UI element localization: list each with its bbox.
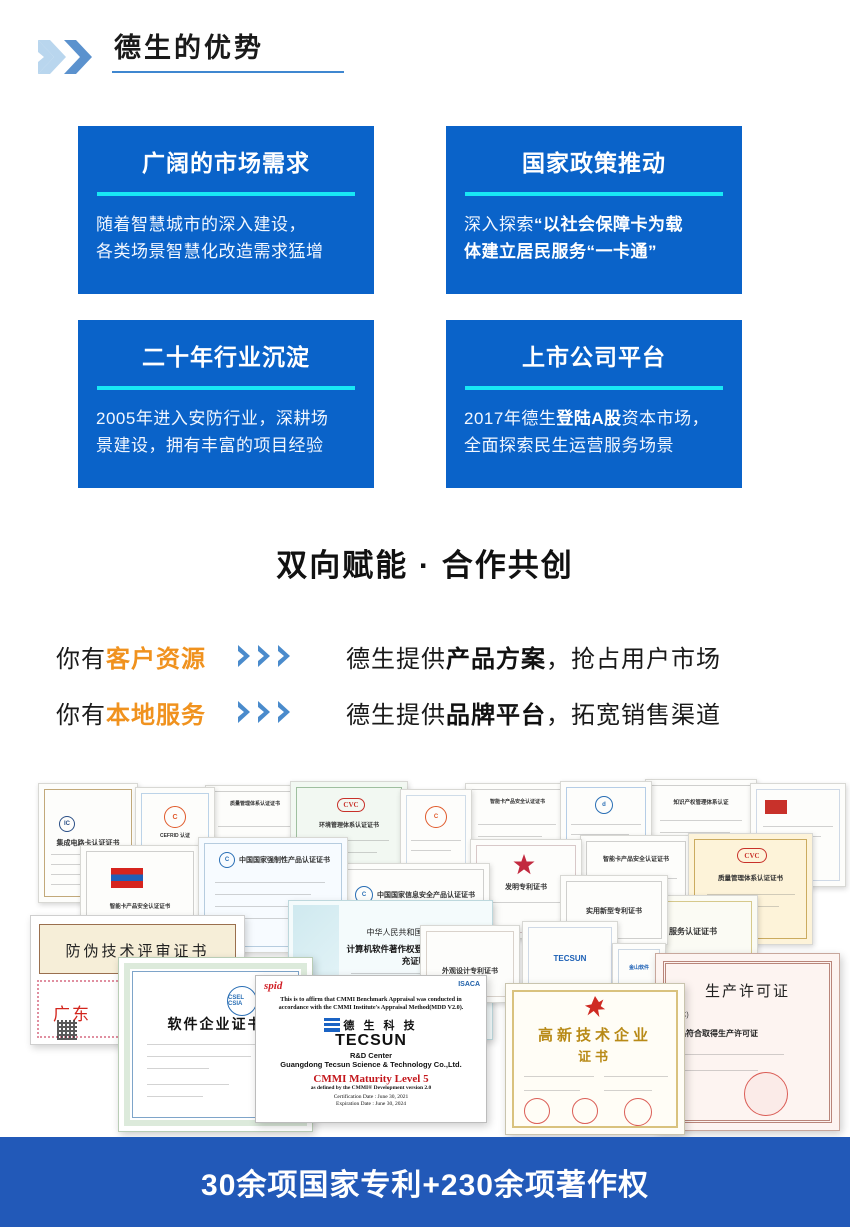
certificate-title: 质量管理体系认证证书 <box>689 872 812 882</box>
advantages-page: 德生的优势 广阔的市场需求 随着智慧城市的深入建设， 各类场景智慧化改造需求猛增… <box>0 0 850 1227</box>
certificate-title: 实用新型专利证书 <box>561 906 667 916</box>
cmmi-expiration-date: Expiration Date : June 30, 2024 <box>264 1101 478 1108</box>
cvc-logo-icon: CVC <box>737 848 767 863</box>
card-body: 2017年德生登陆A股资本市场， 全面探索民生运营服务场景 <box>464 405 724 459</box>
benefit-left-highlight: 本地服务 <box>106 702 206 729</box>
tecsun-mark-icon <box>765 800 787 814</box>
certificate-title: 智能卡产品安全认证证书 <box>466 798 569 805</box>
cmmi-division: R&D Center <box>264 1051 478 1060</box>
advantage-card-market-demand[interactable]: 广阔的市场需求 随着智慧城市的深入建设， 各类场景智慧化改造需求猛增 <box>78 126 374 294</box>
certificate-high-tech-enterprise: 高新技术企业 证书 <box>505 983 685 1135</box>
benefit-left-highlight: 客户资源 <box>106 646 206 673</box>
card-body-line: 深入探索 <box>464 215 534 234</box>
official-red-seal-icon <box>624 1098 652 1126</box>
benefit-rows: 你有客户资源 德生提供产品方案，抢占用户市场 你有本地服务 德生提供品牌平台，拓… <box>0 628 850 740</box>
isaca-logo: ISACA <box>458 981 480 988</box>
certificate-collage: IC 集成电路卡认证证书 C CEFRID 认证 质量管理体系认证证书 CVC … <box>0 775 850 1137</box>
qr-code-icon <box>57 1020 77 1040</box>
official-red-seal-icon <box>524 1098 550 1124</box>
cmmi-defined-by: as defined by the CMMI® Development vers… <box>264 1085 478 1091</box>
card-body-line: 资本市场， <box>622 409 710 428</box>
double-chevron-icon-group <box>36 38 94 76</box>
triple-chevron-right-icon <box>236 644 296 668</box>
official-red-seal-icon <box>572 1098 598 1124</box>
cefrid-logo-icon: C <box>425 806 447 828</box>
double-chevron-medium-icon <box>62 38 94 76</box>
section-header: 德生的优势 <box>0 30 850 96</box>
card-title: 二十年行业沉淀 <box>96 342 356 372</box>
certificate-title: 环境管理体系认证证书 <box>291 820 407 829</box>
benefit-left-prefix: 你有 <box>56 646 106 673</box>
card-body-line: 全面探索民生运营服务场景 <box>464 436 674 455</box>
card-body-emphasis: “以社会保障卡为载 <box>534 215 683 234</box>
card-divider <box>97 386 355 390</box>
card-body-line: 2005年进入安防行业，深耕场 <box>96 409 328 428</box>
spid-logo: spid <box>264 980 282 992</box>
product-safety-logo-icon <box>111 868 143 888</box>
certification-seal-icon: d <box>595 796 613 814</box>
benefit-right: 德生提供品牌平台，拓宽销售渠道 <box>346 695 721 730</box>
benefit-row-customer-resources: 你有客户资源 德生提供产品方案，抢占用户市场 <box>0 628 850 684</box>
ccc-badge-icon: C <box>219 852 235 868</box>
advantage-card-listed-company[interactable]: 上市公司平台 2017年德生登陆A股资本市场， 全面探索民生运营服务场景 <box>446 320 742 488</box>
card-divider <box>465 192 723 196</box>
benefit-right: 德生提供产品方案，抢占用户市场 <box>346 639 721 674</box>
banner-text: 30余项国家专利+230余项著作权 <box>201 1160 649 1204</box>
tecsun-brand-row: 德 生 科 技 <box>264 1017 478 1033</box>
benefit-left: 你有客户资源 <box>56 639 206 674</box>
card-body-line: 各类场景智慧化改造需求猛增 <box>96 242 324 261</box>
cmmi-level: CMMI Maturity Level 5 <box>264 1073 478 1085</box>
card-title: 广阔的市场需求 <box>96 148 356 178</box>
triple-chevron-right-icon <box>236 700 296 724</box>
card-body-emphasis: 体建立居民服务“一卡通” <box>464 242 657 261</box>
card-body: 2005年进入安防行业，深耕场 景建设，拥有丰富的项目经验 <box>96 405 356 459</box>
certificate-title: 智能卡产品安全认证证书 <box>581 854 691 863</box>
cefrid-logo-icon: C <box>164 806 186 828</box>
advantage-cards: 广阔的市场需求 随着智慧城市的深入建设， 各类场景智慧化改造需求猛增 国家政策推… <box>78 126 772 488</box>
cmmi-certification-date: Certification Date : June 30, 2021 <box>264 1094 478 1101</box>
card-body: 深入探索“以社会保障卡为载 体建立居民服务“一卡通” <box>464 211 724 265</box>
benefit-left: 你有本地服务 <box>56 695 206 730</box>
brand-name-en: TECSUN <box>264 1033 478 1049</box>
certificate-title: 中国国家强制性产品认证证书 <box>239 855 341 865</box>
certificate-cmmi-maturity-level-5: spid ISACA This is to affirm that CMMI B… <box>255 975 487 1123</box>
certificate-title: 知识产权管理体系认证 <box>646 798 756 806</box>
certificate-subtitle: 证书 <box>506 1046 684 1065</box>
certificate-title: 中国国家信息安全产品认证证书 <box>377 890 485 900</box>
cvc-logo-icon: CVC <box>337 798 365 812</box>
card-title: 国家政策推动 <box>464 148 724 178</box>
benefit-right-suffix: ，拓宽销售渠道 <box>546 702 721 729</box>
card-divider <box>97 192 355 196</box>
card-title: 上市公司平台 <box>464 342 724 372</box>
benefit-row-local-service: 你有本地服务 德生提供品牌平台，拓宽销售渠道 <box>0 684 850 740</box>
card-body-line: 随着智慧城市的深入建设， <box>96 215 306 234</box>
card-body-emphasis: 登陆A股 <box>556 409 621 428</box>
header-text-wrap: 德生的优势 <box>112 30 344 73</box>
card-body-line: 2017年德生 <box>464 409 556 428</box>
cmmi-affirm-line-2: accordance with the CMMI Institute's App… <box>264 1004 478 1012</box>
benefit-right-suffix: ，抢占用户市场 <box>546 646 721 673</box>
card-body-line: 景建设，拥有丰富的项目经验 <box>96 436 324 455</box>
header-underline <box>112 71 344 73</box>
benefit-right-bold: 产品方案 <box>446 646 546 673</box>
benefit-left-prefix: 你有 <box>56 702 106 729</box>
official-red-seal-icon <box>744 1072 788 1116</box>
card-divider <box>465 386 723 390</box>
advantage-card-industry-experience[interactable]: 二十年行业沉淀 2005年进入安防行业，深耕场 景建设，拥有丰富的项目经验 <box>78 320 374 488</box>
benefit-right-prefix: 德生提供 <box>346 702 446 729</box>
cmmi-company: Guangdong Tecsun Science & Technology Co… <box>264 1060 478 1069</box>
page-title: 德生的优势 <box>112 30 344 68</box>
benefit-right-bold: 品牌平台 <box>446 702 546 729</box>
iccb-badge-icon: IC <box>59 816 75 832</box>
benefit-right-prefix: 德生提供 <box>346 646 446 673</box>
certificate-title: 智能卡产品安全认证证书 <box>81 902 199 910</box>
advantage-card-national-policy[interactable]: 国家政策推动 深入探索“以社会保障卡为载 体建立居民服务“一卡通” <box>446 126 742 294</box>
card-body: 随着智慧城市的深入建设， 各类场景智慧化改造需求猛增 <box>96 211 356 265</box>
cmmi-affirm-line-1: This is to affirm that CMMI Benchmark Ap… <box>264 996 478 1004</box>
brand-name-cn: 德 生 科 技 <box>343 1017 417 1033</box>
csel-csia-badge-icon: CSEL CSIA <box>227 986 257 1016</box>
certificate-title: 高新技术企业 <box>506 1024 684 1045</box>
mid-section-title: 双向赋能 · 合作共创 <box>0 540 850 585</box>
tecsun-logo-icon <box>324 1018 340 1032</box>
bottom-banner: 30余项国家专利+230余项著作权 <box>0 1137 850 1227</box>
certificate-title: TECSUN <box>523 954 617 963</box>
